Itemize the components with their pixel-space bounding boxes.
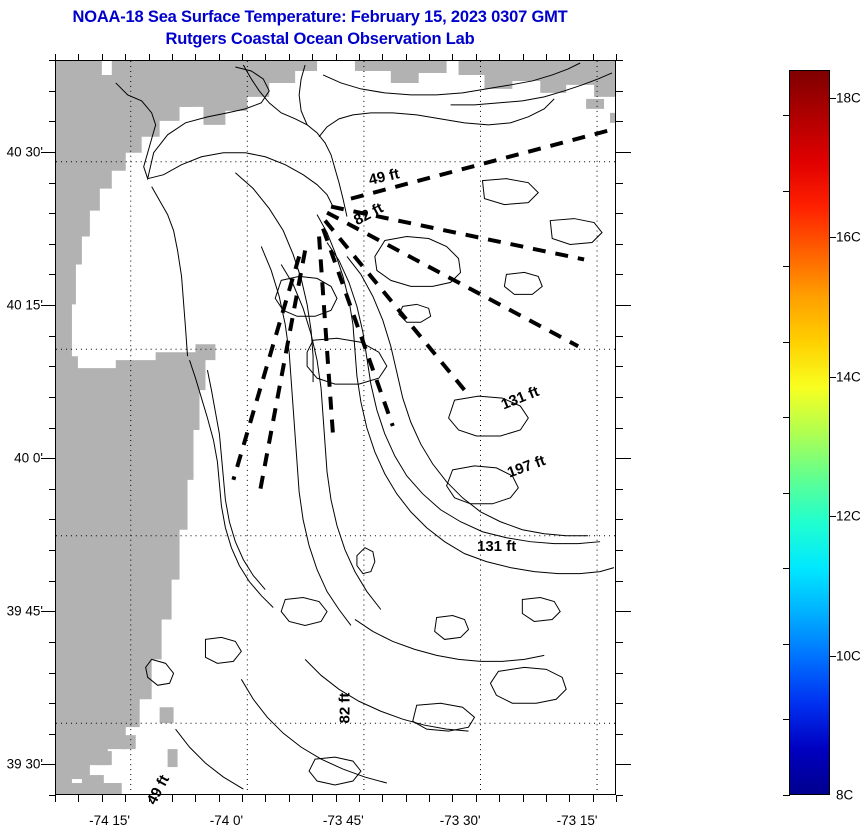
depth-label: 131 ft [477, 538, 516, 555]
page-title: NOAA-18 Sea Surface Temperature: Februar… [0, 6, 640, 50]
colorbar-tick [783, 266, 790, 267]
colorbar-celsius-label: 12C [836, 509, 861, 524]
colorbar-celsius-label: 8C [836, 788, 853, 803]
colorbar-tick [830, 656, 836, 657]
depth-label: 82 ft [337, 693, 354, 724]
x-axis-label: -74 0' [181, 813, 271, 828]
map-canvas [56, 61, 615, 794]
colorbar-tick [830, 98, 836, 99]
y-axis-label: 39 45' [0, 604, 43, 619]
x-axis-ticks-bottom [55, 795, 616, 811]
title-line-1: NOAA-18 Sea Surface Temperature: Februar… [0, 6, 640, 28]
colorbar-tick [783, 417, 790, 418]
colorbar-tick [783, 795, 790, 796]
y-axis-label: 40 15' [0, 298, 43, 313]
colorbar-celsius-label: 10C [836, 648, 861, 663]
colorbar-gradient [790, 71, 829, 794]
colorbar-tick [830, 237, 836, 238]
x-axis-label: -73 45' [298, 813, 388, 828]
colorbar-tick [783, 115, 790, 116]
colorbar-tick [783, 342, 790, 343]
sst-map-plot [55, 60, 616, 795]
x-axis-label: -73 30' [415, 813, 505, 828]
colorbar-tick [783, 493, 790, 494]
y-axis-ticks-right [616, 60, 632, 795]
x-axis-label: -73 15' [532, 813, 622, 828]
y-axis-ticks [40, 60, 56, 795]
colorbar-tick [783, 191, 790, 192]
colorbar-tick [830, 516, 836, 517]
colorbar-tick [783, 644, 790, 645]
temperature-colorbar [789, 70, 830, 795]
colorbar-tick [783, 719, 790, 720]
x-axis-label: -74 15' [65, 813, 155, 828]
colorbar-celsius-label: 16C [836, 230, 861, 245]
y-axis-label: 40 0' [0, 451, 43, 466]
colorbar-celsius-label: 18C [836, 90, 861, 105]
colorbar-tick [783, 568, 790, 569]
colorbar-tick [830, 377, 836, 378]
x-axis-ticks-top [55, 45, 616, 61]
y-axis-label: 40 30' [0, 144, 43, 159]
colorbar-celsius-label: 14C [836, 369, 861, 384]
y-axis-label: 39 30' [0, 757, 43, 772]
